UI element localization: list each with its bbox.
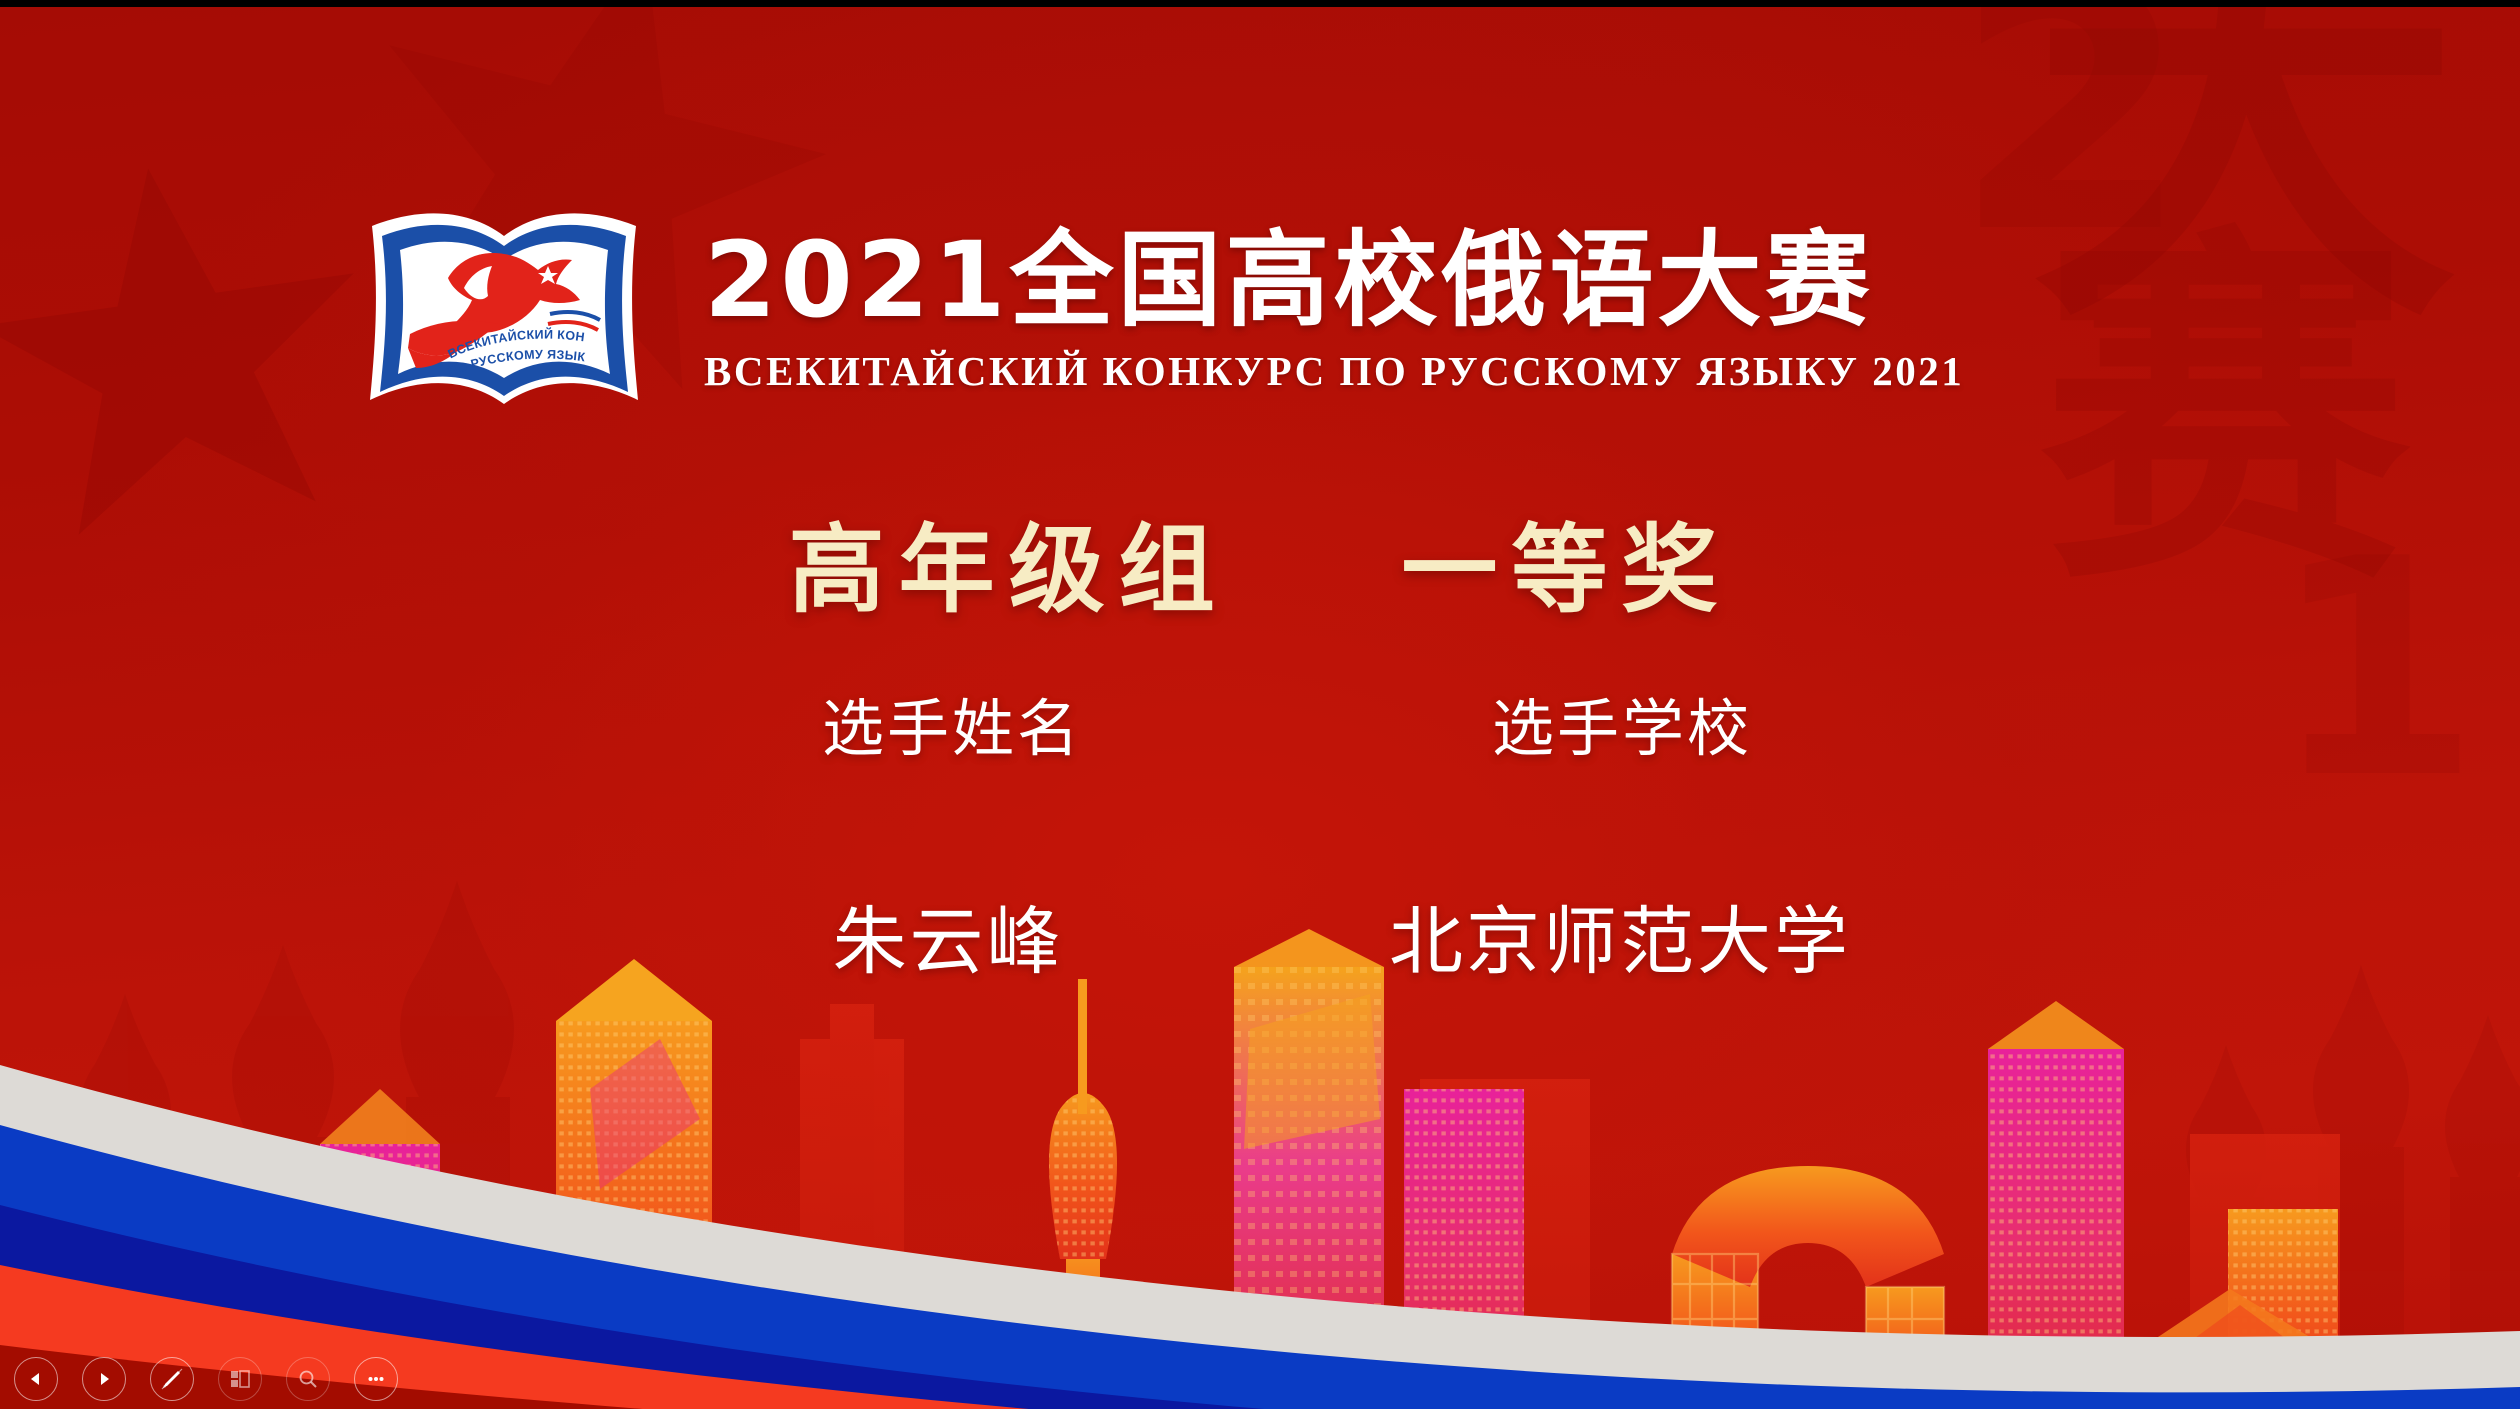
more-options-button[interactable] — [354, 1357, 398, 1401]
slide-header: ВСЕКИТАЙСКИЙ КОНКУРС ПО РУССКОМУ ЯЗЫКУ 2… — [352, 178, 2172, 438]
column-header-school: 选手学校 — [1322, 678, 1922, 768]
triangle-right-icon — [94, 1369, 114, 1389]
slideshow-toolbar — [14, 1357, 398, 1401]
winner-school: 北京师范大学 — [1320, 882, 1920, 989]
award-group-label: 高年级组 — [789, 514, 1229, 626]
winner-name: 朱云峰 — [648, 882, 1248, 989]
title-column: 2021全国高校俄语大赛 ВСЕКИТАЙСКИЙ КОНКУРС ПО РУС… — [704, 221, 1964, 395]
page-subtitle-russian: ВСЕКИТАЙСКИЙ КОНКУРС ПО РУССКОМУ ЯЗЫКУ 2… — [704, 347, 1964, 395]
column-header-name: 选手姓名 — [652, 678, 1252, 768]
next-slide-button[interactable] — [82, 1357, 126, 1401]
all-slides-button[interactable] — [218, 1357, 262, 1401]
grid-icon — [229, 1368, 251, 1390]
table-header-row: 选手姓名 选手学校 — [0, 678, 2520, 768]
slide-content: ВСЕКИТАЙСКИЙ КОНКУРС ПО РУССКОМУ ЯЗЫКУ 2… — [0, 0, 2520, 1409]
slideshow-viewport: 大 2 赛 1 — [0, 0, 2520, 1409]
zoom-slide-button[interactable] — [286, 1357, 330, 1401]
letterbox-strip — [0, 0, 2520, 7]
pen-tool-button[interactable] — [150, 1357, 194, 1401]
magnifier-icon — [297, 1368, 319, 1390]
competition-logo: ВСЕКИТАЙСКИЙ КОНКУРС ПО РУССКОМУ ЯЗЫКУ — [352, 192, 662, 424]
award-prize-label: 一等奖 — [1401, 514, 1731, 626]
triangle-left-icon — [26, 1369, 46, 1389]
ellipsis-icon — [365, 1368, 387, 1390]
previous-slide-button[interactable] — [14, 1357, 58, 1401]
pen-icon — [159, 1366, 185, 1392]
award-heading: 高年级组 一等奖 — [0, 492, 2520, 631]
page-title: 2021全国高校俄语大赛 — [704, 225, 1964, 335]
table-row: 朱云峰 北京师范大学 — [0, 882, 2520, 989]
